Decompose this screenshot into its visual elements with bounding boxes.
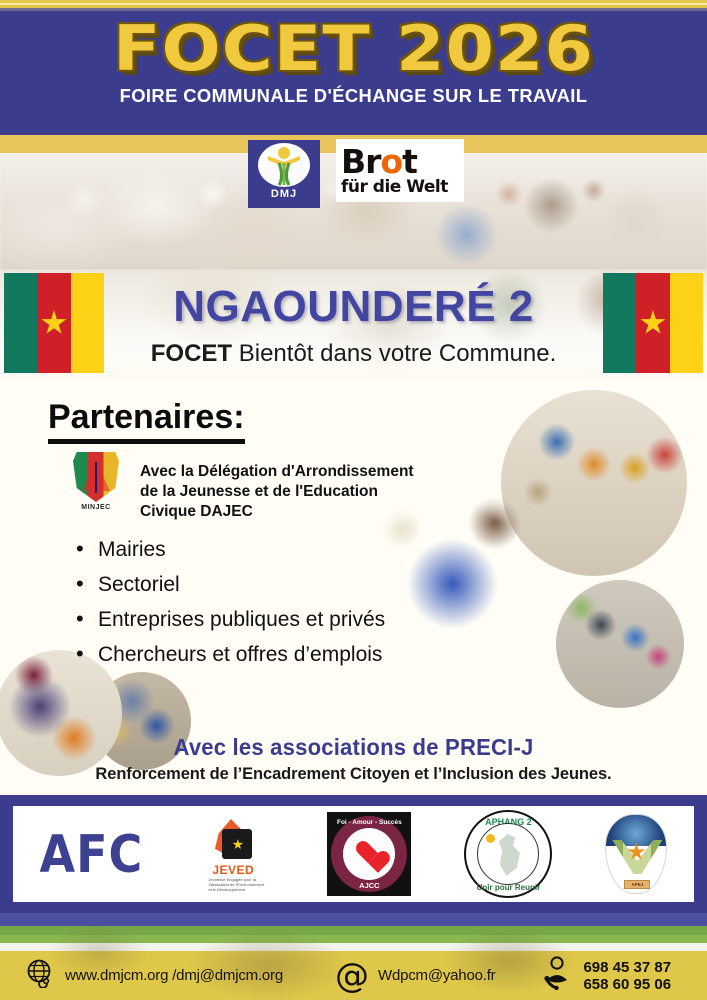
aphang-2-logo: APHANG 2 Unir pour Reunir: [464, 810, 552, 898]
preci-j-subtitle: Renforcement de l’Encadrement Citoyen et…: [11, 764, 697, 784]
dajec-description: Avec la Délégation d'Arrondissement de l…: [140, 462, 470, 522]
dmj-emblem-icon: [258, 143, 310, 187]
jeved-logo-label: JEVED: [212, 863, 254, 877]
preci-j-title: Avec les associations de PRECI-J: [14, 734, 693, 761]
footer-website-item: www.dmjcm.org /dmj@dmjcm.org: [26, 958, 283, 993]
poster-title: FOCET 2026: [0, 19, 707, 80]
apej-logo-label: APEJ: [625, 881, 649, 889]
association-logos-strip: AFC JEVED Jeunesse Engagée pour la Valor…: [13, 806, 694, 902]
jeved-emblem-icon: [222, 829, 252, 859]
cameroon-map-icon: [494, 834, 524, 876]
sun-icon: [486, 834, 495, 843]
apej-logo: APEJ: [605, 814, 667, 894]
at-icon: @: [335, 959, 369, 993]
ajcc-logo-label: AJCC: [331, 881, 407, 890]
ajcc-motto: Foi - Amour - Succès: [331, 819, 407, 826]
footer-email-item: @ Wdpcm@yahoo.fr: [335, 959, 495, 993]
phone-number-1: 698 45 37 87: [583, 959, 671, 976]
minjec-logo: MINJEC: [60, 452, 132, 524]
footer-phone-numbers[interactable]: 698 45 37 87 658 60 95 06: [583, 959, 671, 993]
list-item: Sectoriel: [74, 567, 474, 602]
list-item: Mairies: [74, 532, 474, 567]
brot-tagline: für die Welt: [341, 178, 459, 196]
dajec-line-2: de la Jeunesse et de l'Education: [140, 482, 470, 502]
footer-email-text[interactable]: Wdpcm@yahoo.fr: [378, 967, 495, 984]
globe-icon: [26, 958, 56, 993]
poster-subtitle: FOIRE COMMUNALE D'ÉCHANGE SUR LE TRAVAIL: [0, 86, 707, 107]
list-item: Chercheurs et offres d’emplois: [74, 637, 474, 672]
aphang-inner-circle-icon: [477, 823, 539, 885]
top-stripe-decoration: [0, 0, 707, 11]
poster-footer: www.dmjcm.org /dmj@dmjcm.org @ Wdpcm@yah…: [0, 951, 707, 1000]
dmj-logo: DMJ: [248, 140, 320, 208]
aphang-motto: Unir pour Reunir: [466, 883, 550, 892]
list-item: Entreprises publiques et privés: [74, 602, 474, 637]
footer-phone-item: 698 45 37 87 658 60 95 06: [543, 956, 671, 995]
jeved-logo: JEVED Jeunesse Engagée pour la Valorisat…: [196, 815, 274, 893]
minjec-logo-label: MINJEC: [81, 504, 110, 511]
contact-person-phone-icon: [543, 956, 575, 995]
footer-website-text[interactable]: www.dmjcm.org /dmj@dmjcm.org: [65, 967, 283, 984]
afc-logo: AFC: [40, 824, 144, 884]
brot-wordmark: Brot: [341, 146, 459, 178]
minjec-shield-icon: [73, 452, 119, 502]
jeved-logo-tagline: Jeunesse Engagée pour la Valorisation de…: [208, 877, 268, 892]
ajcc-ring-icon: Foi - Amour - Succès AJCC: [331, 816, 407, 892]
poster-header: FOCET 2026 FOIRE COMMUNALE D'ÉCHANGE SUR…: [0, 11, 707, 135]
dmj-logo-label: DMJ: [271, 187, 297, 201]
partners-list: Mairies Sectoriel Entreprises publiques …: [74, 532, 474, 672]
dajec-line-1: Avec la Délégation d'Arrondissement: [140, 462, 470, 482]
phone-number-2: 658 60 95 06: [583, 976, 671, 993]
focet-poster: FOCET 2026 FOIRE COMMUNALE D'ÉCHANGE SUR…: [0, 0, 707, 1000]
footer-band-green: [0, 926, 707, 944]
partners-heading: Partenaires:: [48, 398, 245, 444]
commune-tagline: FOCET Bientôt dans votre Commune.: [0, 340, 707, 368]
heart-icon: [356, 842, 382, 866]
brot-fur-die-welt-logo: Brot für die Welt: [336, 139, 464, 202]
dajec-line-3: Civique DAJEC: [140, 502, 470, 522]
apej-base-plate: APEJ: [624, 880, 650, 889]
commune-name: NGAOUNDERÉ 2: [0, 282, 707, 332]
ajcc-logo: Foi - Amour - Succès AJCC: [327, 812, 411, 896]
